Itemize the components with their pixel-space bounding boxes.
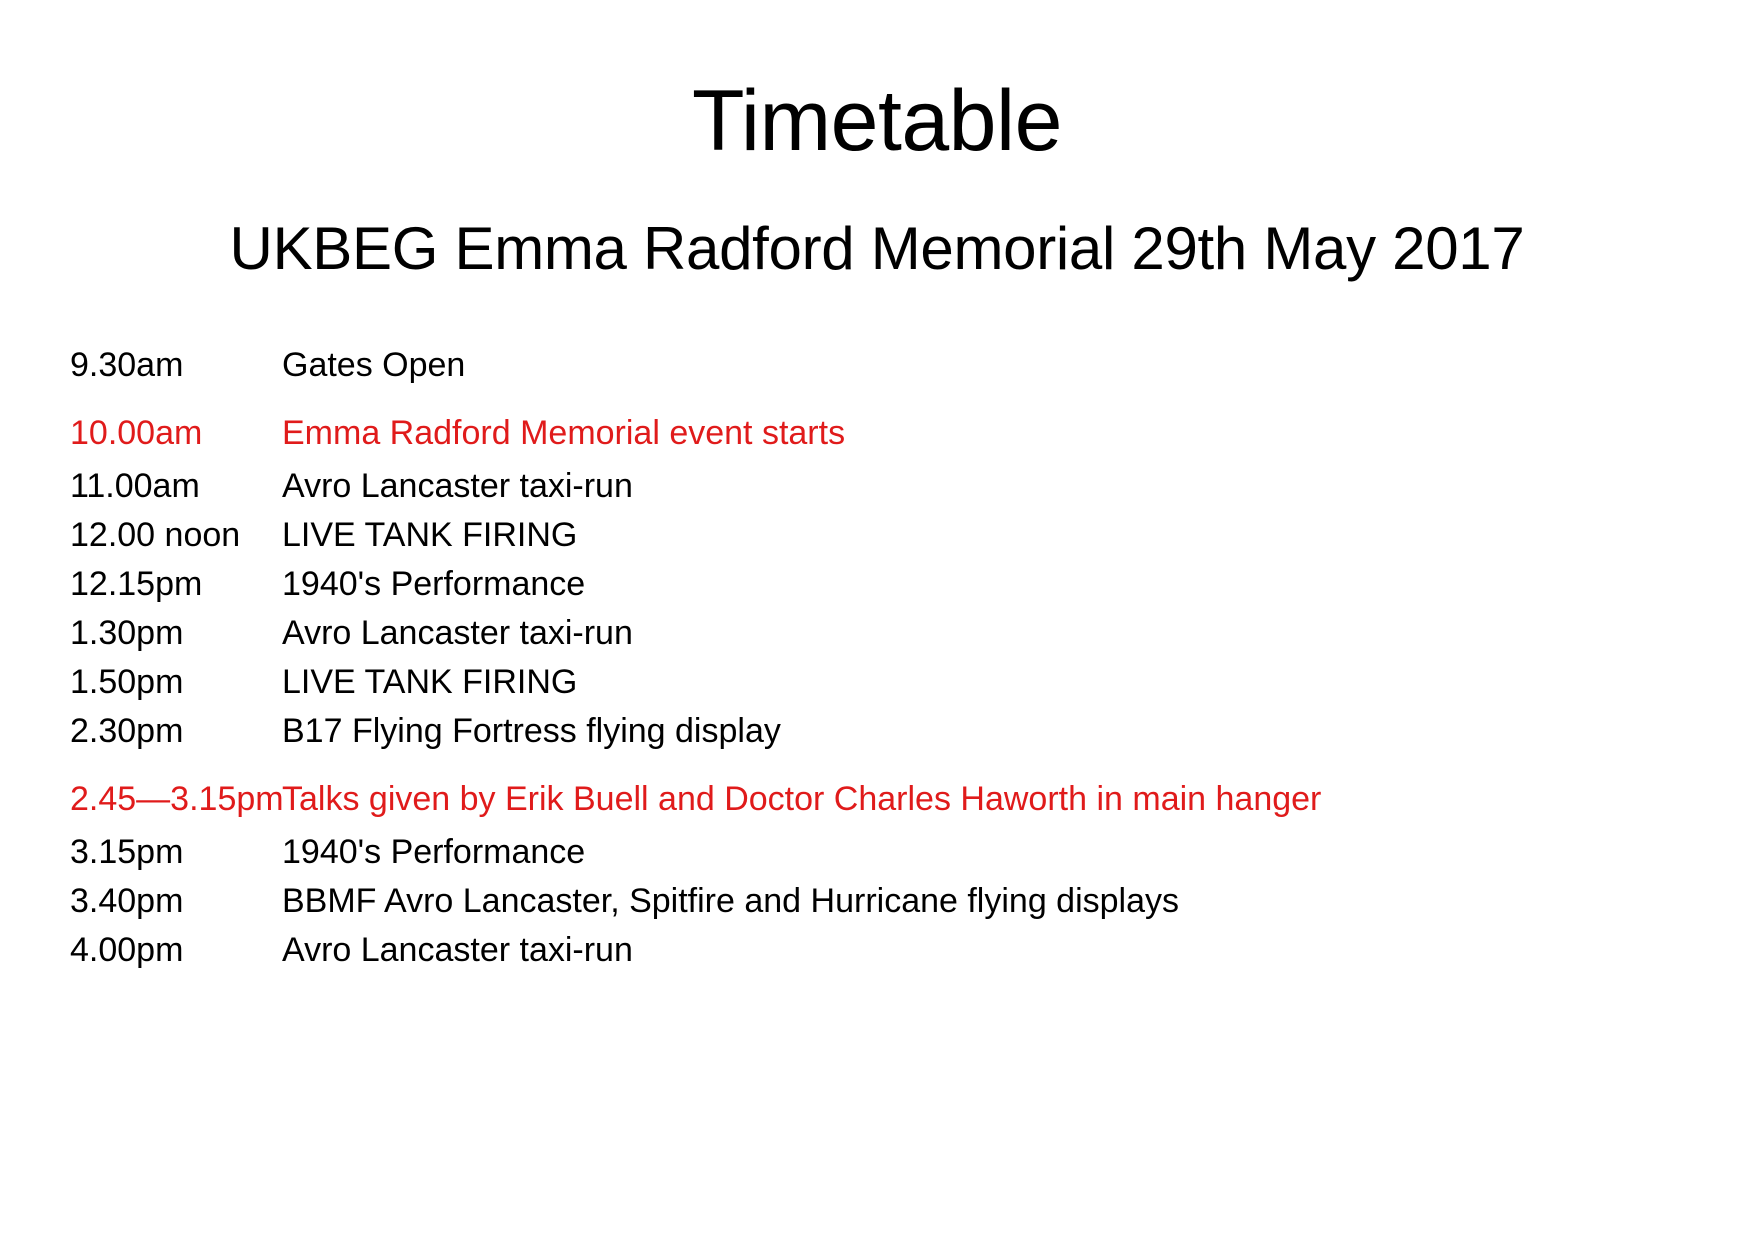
schedule-row-description: Avro Lancaster taxi-run — [282, 933, 1690, 967]
schedule-row-description: 1940's Performance — [282, 567, 1690, 601]
schedule-row-description: Avro Lancaster taxi-run — [282, 469, 1690, 503]
schedule-row: 11.00amAvro Lancaster taxi-run — [70, 469, 1690, 518]
schedule-row: 1.50pmLIVE TANK FIRING — [70, 665, 1690, 714]
schedule-row: 1.30pmAvro Lancaster taxi-run — [70, 616, 1690, 665]
schedule-row-time: 12.15pm — [70, 567, 282, 601]
schedule-row-description: BBMF Avro Lancaster, Spitfire and Hurric… — [282, 884, 1690, 918]
schedule-list: 9.30amGates Open10.00amEmma Radford Memo… — [70, 348, 1690, 982]
schedule-row: 12.15pm1940's Performance — [70, 567, 1690, 616]
schedule-row-description: 1940's Performance — [282, 835, 1690, 869]
schedule-row: 9.30amGates Open — [70, 348, 1690, 397]
schedule-row-description: LIVE TANK FIRING — [282, 665, 1690, 699]
schedule-row: 4.00pmAvro Lancaster taxi-run — [70, 933, 1690, 982]
schedule-row: 2.45—3.15pmTalks given by Erik Buell and… — [70, 763, 1690, 835]
schedule-row-time: 9.30am — [70, 348, 282, 382]
schedule-row-description: LIVE TANK FIRING — [282, 518, 1690, 552]
schedule-row-time: 11.00am — [70, 469, 282, 503]
schedule-row-description: Gates Open — [282, 348, 1690, 382]
timetable-slide: Timetable UKBEG Emma Radford Memorial 29… — [0, 0, 1754, 1240]
schedule-row: 12.00 noonLIVE TANK FIRING — [70, 518, 1690, 567]
schedule-row-time: 4.00pm — [70, 933, 282, 967]
page-title: Timetable — [0, 76, 1754, 166]
schedule-row: 3.40pmBBMF Avro Lancaster, Spitfire and … — [70, 884, 1690, 933]
schedule-row-description: Avro Lancaster taxi-run — [282, 616, 1690, 650]
schedule-row: 3.15pm1940's Performance — [70, 835, 1690, 884]
schedule-row: 10.00amEmma Radford Memorial event start… — [70, 397, 1690, 469]
schedule-row: 2.30pmB17 Flying Fortress flying display — [70, 714, 1690, 763]
schedule-row-time: 3.40pm — [70, 884, 282, 918]
schedule-row-time: 12.00 noon — [70, 518, 282, 552]
schedule-row-time: 2.30pm — [70, 714, 282, 748]
schedule-row-description: Talks given by Erik Buell and Doctor Cha… — [282, 782, 1690, 816]
schedule-row-time: 3.15pm — [70, 835, 282, 869]
page-subtitle: UKBEG Emma Radford Memorial 29th May 201… — [0, 216, 1754, 282]
schedule-row-description: B17 Flying Fortress flying display — [282, 714, 1690, 748]
schedule-row-time: 1.30pm — [70, 616, 282, 650]
schedule-row-description: Emma Radford Memorial event starts — [282, 416, 1690, 450]
schedule-row-time: 2.45—3.15pm — [70, 782, 282, 816]
schedule-row-time: 10.00am — [70, 416, 282, 450]
schedule-row-time: 1.50pm — [70, 665, 282, 699]
